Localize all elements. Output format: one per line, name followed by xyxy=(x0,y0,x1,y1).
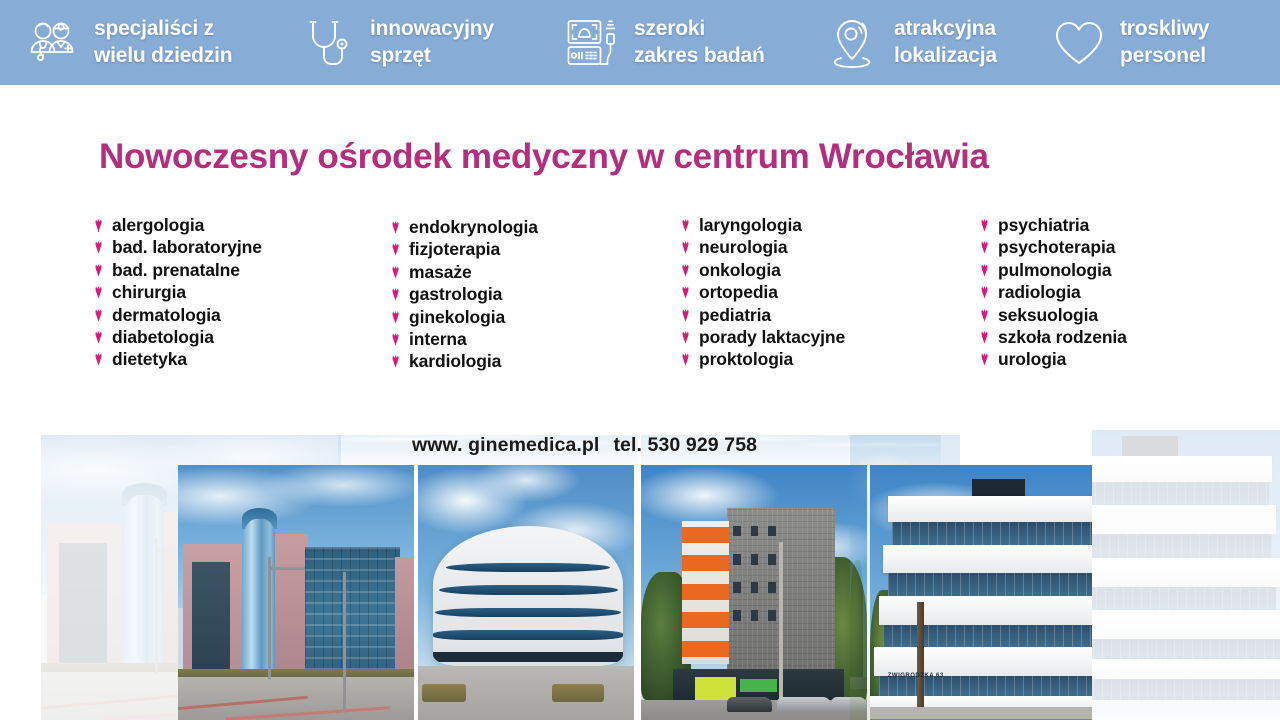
service-label: neurologia xyxy=(699,237,787,257)
service-label: dermatologia xyxy=(112,305,221,325)
service-label: gastrologia xyxy=(409,284,502,304)
list-item[interactable]: bad. laboratoryjne xyxy=(92,237,262,259)
feature-label: szeroki zakres badań xyxy=(634,16,765,70)
list-item[interactable]: fizjoterapia xyxy=(389,239,538,261)
service-label: porady laktacyjne xyxy=(699,327,845,347)
service-label: bad. laboratoryjne xyxy=(112,237,262,257)
list-item[interactable]: ginekologia xyxy=(389,307,538,329)
service-label: psychoterapia xyxy=(998,237,1115,257)
photo-ghost-clinic-right xyxy=(1092,430,1280,720)
list-item[interactable]: alergologia xyxy=(92,215,262,237)
service-label: psychiatria xyxy=(998,215,1089,235)
list-item[interactable]: diabetologia xyxy=(92,327,262,349)
poster-page: specjaliści z wielu dziedzin innowacyjny… xyxy=(0,0,1280,720)
service-label: szkoła rodzenia xyxy=(998,327,1127,347)
tulip-bullet-icon xyxy=(679,352,692,366)
list-item[interactable]: masaże xyxy=(389,262,538,284)
list-item[interactable]: gastrologia xyxy=(389,284,538,306)
service-label: radiologia xyxy=(998,282,1081,302)
service-label: interna xyxy=(409,329,467,349)
tulip-bullet-icon xyxy=(389,242,402,256)
tulip-bullet-icon xyxy=(92,285,105,299)
tulip-bullet-icon xyxy=(92,330,105,344)
tulip-bullet-icon xyxy=(978,352,991,366)
service-label: kardiologia xyxy=(409,351,501,371)
tulip-bullet-icon xyxy=(679,308,692,322)
photo-strip: ZWIGRODZKA 63 xyxy=(0,430,1280,720)
list-item[interactable]: laryngologia xyxy=(679,215,845,237)
feature-item-location[interactable]: atrakcyjna lokalizacja xyxy=(816,0,1044,85)
list-item[interactable]: kardiologia xyxy=(389,351,538,373)
services-column-3: laryngologia neurologia onkologia ortope… xyxy=(679,215,845,372)
tulip-bullet-icon xyxy=(92,308,105,322)
feature-label: specjaliści z wielu dziedzin xyxy=(94,16,232,70)
list-item[interactable]: pulmonologia xyxy=(978,260,1127,282)
service-label: diabetologia xyxy=(112,327,214,347)
tulip-bullet-icon xyxy=(679,285,692,299)
tulip-bullet-icon xyxy=(389,310,402,324)
tulip-bullet-icon xyxy=(389,220,402,234)
feature-item-scope-of-tests[interactable]: szeroki zakres badań xyxy=(554,0,816,85)
tulip-bullet-icon xyxy=(679,240,692,254)
photo-ghost-sky-band-1 xyxy=(338,435,638,465)
tulip-bullet-icon xyxy=(679,330,692,344)
service-label: endokrynologia xyxy=(409,217,538,237)
list-item[interactable]: endokrynologia xyxy=(389,217,538,239)
feature-item-staff[interactable]: troskliwy personel xyxy=(1044,0,1280,85)
feature-bar: specjaliści z wielu dziedzin innowacyjny… xyxy=(0,0,1280,85)
services-column-2: endokrynologia fizjoterapia masaże gastr… xyxy=(389,217,538,374)
list-item[interactable]: dietetyka xyxy=(92,349,262,371)
service-label: dietetyka xyxy=(112,349,187,369)
stethoscope-icon xyxy=(300,15,358,71)
service-label: seksuologia xyxy=(998,305,1098,325)
service-label: masaże xyxy=(409,262,472,282)
tulip-bullet-icon xyxy=(978,308,991,322)
feature-item-equipment[interactable]: innowacyjny sprzęt xyxy=(292,0,554,85)
tulip-bullet-icon xyxy=(389,332,402,346)
service-label: ortopedia xyxy=(699,282,778,302)
list-item[interactable]: dermatologia xyxy=(92,305,262,327)
photo-office-building[interactable] xyxy=(178,465,414,720)
heart-icon xyxy=(1050,15,1108,71)
building-sign-text: ZWIGRODZKA 63 xyxy=(888,673,944,679)
tulip-bullet-icon xyxy=(92,240,105,254)
list-item[interactable]: porady laktacyjne xyxy=(679,327,845,349)
page-title: Nowoczesny ośrodek medyczny w centrum Wr… xyxy=(99,137,1189,177)
service-label: onkologia xyxy=(699,260,781,280)
services-list: alergologia bad. laboratoryjne bad. pren… xyxy=(0,215,1280,385)
tulip-bullet-icon xyxy=(978,218,991,232)
feature-label: innowacyjny sprzęt xyxy=(370,16,494,70)
location-pin-icon xyxy=(824,15,882,71)
tulip-bullet-icon xyxy=(389,354,402,368)
list-item[interactable]: pediatria xyxy=(679,305,845,327)
service-label: chirurgia xyxy=(112,282,186,302)
tulip-bullet-icon xyxy=(679,218,692,232)
list-item[interactable]: ortopedia xyxy=(679,282,845,304)
tulip-bullet-icon xyxy=(92,218,105,232)
list-item[interactable]: neurologia xyxy=(679,237,845,259)
service-label: bad. prenatalne xyxy=(112,260,240,280)
ultrasound-machine-icon xyxy=(564,15,622,71)
list-item[interactable]: proktologia xyxy=(679,349,845,371)
service-label: pediatria xyxy=(699,305,771,325)
service-label: pulmonologia xyxy=(998,260,1112,280)
list-item[interactable]: interna xyxy=(389,329,538,351)
service-label: urologia xyxy=(998,349,1066,369)
services-column-1: alergologia bad. laboratoryjne bad. pren… xyxy=(92,215,262,372)
service-label: ginekologia xyxy=(409,307,505,327)
list-item[interactable]: chirurgia xyxy=(92,282,262,304)
tulip-bullet-icon xyxy=(978,240,991,254)
service-label: proktologia xyxy=(699,349,793,369)
service-label: alergologia xyxy=(112,215,204,235)
list-item[interactable]: szkoła rodzenia xyxy=(978,327,1127,349)
tulip-bullet-icon xyxy=(679,263,692,277)
feature-item-specialists[interactable]: specjaliści z wielu dziedzin xyxy=(0,0,292,85)
service-label: fizjoterapia xyxy=(409,239,500,259)
tulip-bullet-icon xyxy=(389,265,402,279)
tulip-bullet-icon xyxy=(92,352,105,366)
list-item[interactable]: seksuologia xyxy=(978,305,1127,327)
tulip-bullet-icon xyxy=(978,330,991,344)
list-item[interactable]: radiologia xyxy=(978,282,1127,304)
list-item[interactable]: onkologia xyxy=(679,260,845,282)
photo-round-white-building[interactable] xyxy=(418,465,634,720)
tulip-bullet-icon xyxy=(389,287,402,301)
tulip-bullet-icon xyxy=(978,263,991,277)
photo-modern-clinic[interactable]: ZWIGRODZKA 63 xyxy=(870,465,1092,720)
doctors-pair-icon xyxy=(24,15,82,71)
list-item[interactable]: bad. prenatalne xyxy=(92,260,262,282)
list-item[interactable]: psychiatria xyxy=(978,215,1127,237)
list-item[interactable]: urologia xyxy=(978,349,1127,371)
list-item[interactable]: psychoterapia xyxy=(978,237,1127,259)
services-column-4: psychiatria psychoterapia pulmonologia r… xyxy=(978,215,1127,372)
feature-label: troskliwy personel xyxy=(1120,16,1209,70)
tulip-bullet-icon xyxy=(978,285,991,299)
photo-stone-apartment-block[interactable] xyxy=(641,465,867,720)
service-label: laryngologia xyxy=(699,215,802,235)
tulip-bullet-icon xyxy=(92,263,105,277)
feature-label: atrakcyjna lokalizacja xyxy=(894,16,997,70)
